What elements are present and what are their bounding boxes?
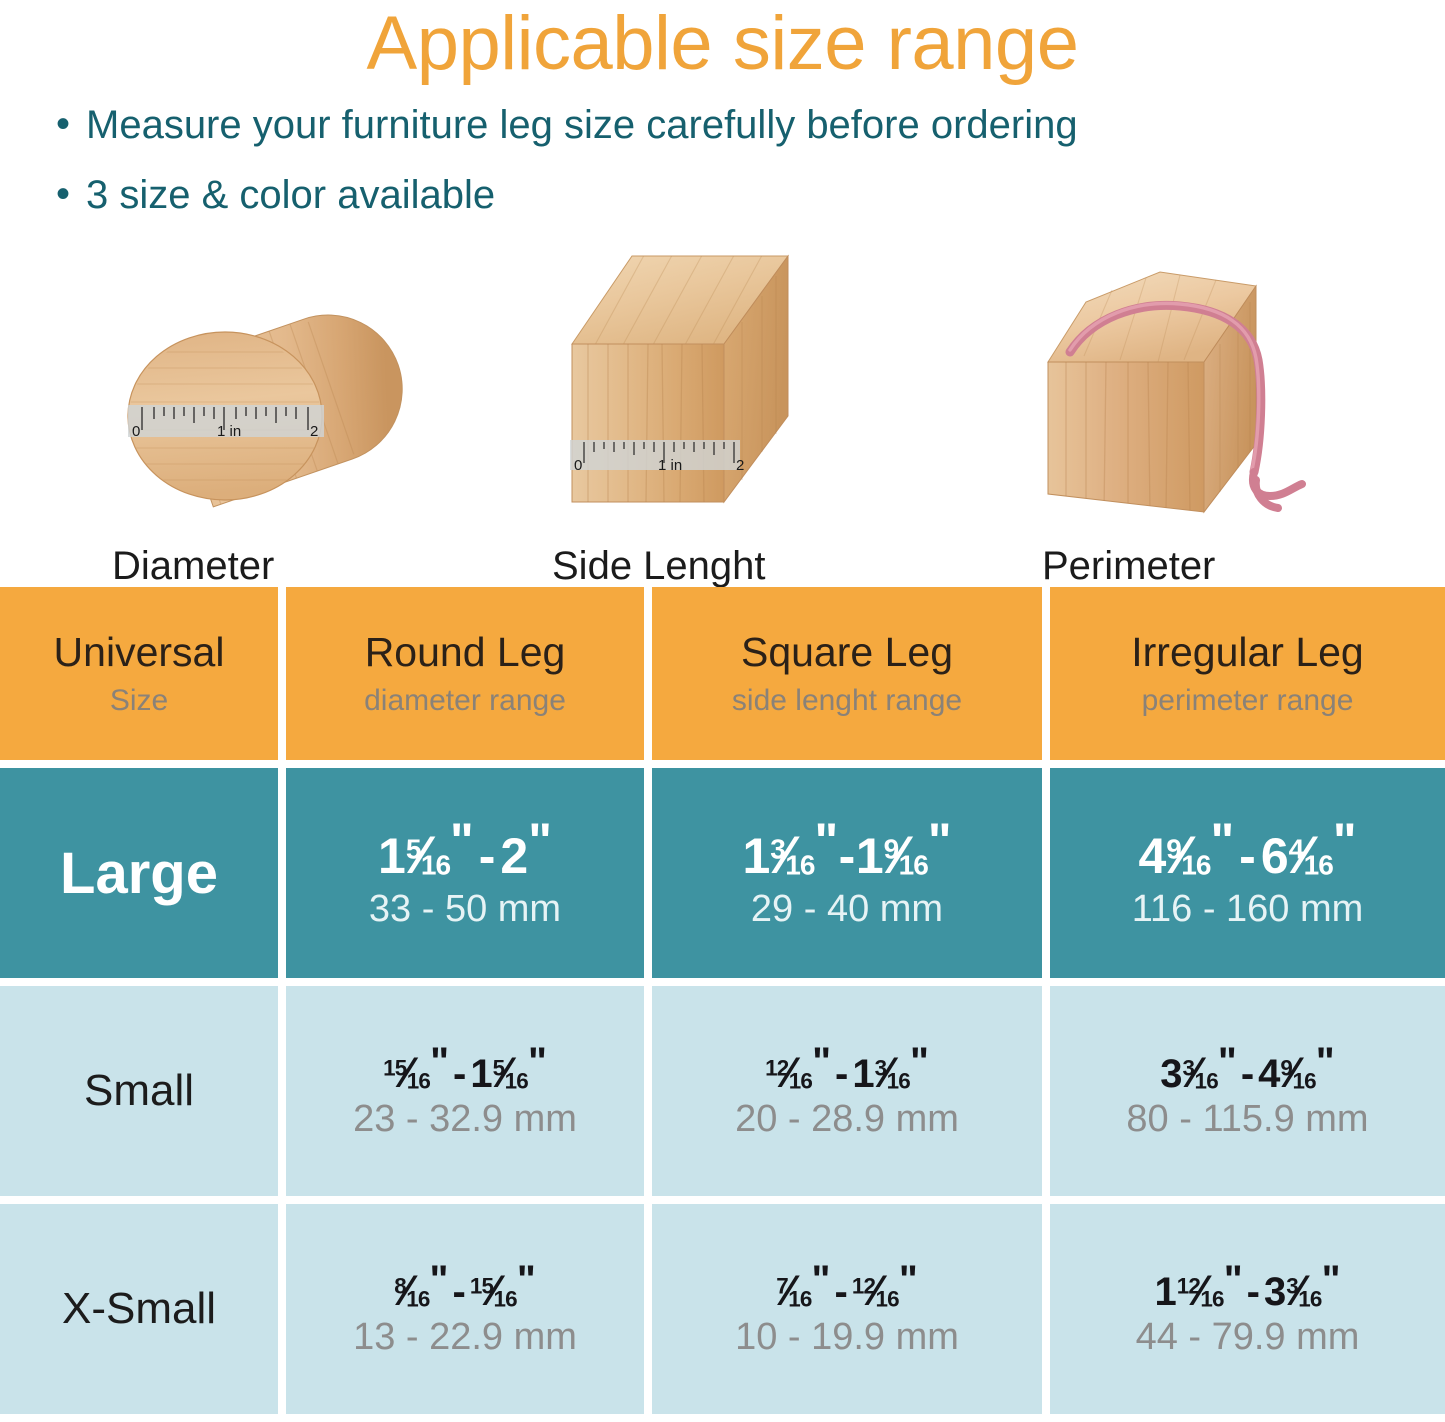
header-cell-universal-size: Universal Size (0, 587, 278, 760)
header-cell-round-leg: Round Leg diameter range (286, 587, 644, 760)
inch-range: 15⁄16"-2" (378, 815, 552, 884)
mm-range: 116 - 160 mm (1132, 889, 1364, 931)
table-row: Large 15⁄16"-2" 33 - 50 mm 13⁄16"-19⁄16"… (0, 768, 1445, 978)
inch-range: 33⁄16"-49⁄16" (1160, 1041, 1334, 1096)
ruler-mark-0: 0 (574, 457, 582, 474)
size-label: Small (84, 1066, 194, 1116)
value-cell-x-small-square: 7⁄16"-12⁄16" 10 - 19.9 mm (652, 1204, 1042, 1414)
ruler-mark-2: 2 (736, 457, 744, 474)
header-sub: perimeter range (1142, 684, 1354, 717)
bullet-text: Measure your furniture leg size carefull… (86, 104, 1078, 146)
size-label: Large (60, 840, 218, 907)
size-cell-small: Small (0, 986, 278, 1196)
value-cell-large-irregular: 49⁄16"-64⁄16" 116 - 160 mm (1050, 768, 1445, 978)
ruler-mark-1in: 1 in (217, 423, 241, 440)
table-header-row: Universal Size Round Leg diameter range … (0, 587, 1445, 760)
inch-range: 15⁄16"-15⁄16" (383, 1041, 547, 1096)
measuring-string-tail (1253, 472, 1302, 508)
value-cell-x-small-round: 8⁄16"-15⁄16" 13 - 22.9 mm (286, 1204, 644, 1414)
header-cell-square-leg: Square Leg side lenght range (652, 587, 1042, 760)
ruler-mark-1in: 1 in (658, 457, 682, 474)
ruler-overlay: 0 1 in 2 (570, 440, 744, 474)
irregular-leg-block-illustration (1040, 244, 1330, 524)
value-cell-x-small-irregular: 112⁄16"-33⁄16" 44 - 79.9 mm (1050, 1204, 1445, 1414)
size-cell-x-small: X-Small (0, 1204, 278, 1414)
header-main: Round Leg (365, 630, 566, 675)
bullet-text: 3 size & color available (86, 174, 495, 216)
square-leg-block-illustration: 0 1 in 2 (570, 244, 820, 524)
mm-range: 23 - 32.9 mm (353, 1099, 577, 1141)
bullet-dot-icon: • (56, 174, 86, 214)
inch-range: 7⁄16"-12⁄16" (776, 1259, 918, 1314)
mm-range: 33 - 50 mm (369, 889, 561, 931)
table-row: X-Small 8⁄16"-15⁄16" 13 - 22.9 mm 7⁄16"-… (0, 1204, 1445, 1414)
size-chart-table: Universal Size Round Leg diameter range … (0, 587, 1445, 1422)
list-item: • Measure your furniture leg size carefu… (56, 104, 1445, 146)
mm-range: 10 - 19.9 mm (735, 1317, 959, 1359)
inch-range: 12⁄16"-13⁄16" (765, 1041, 929, 1096)
header-main: Universal (54, 630, 225, 675)
header-main: Square Leg (741, 630, 953, 675)
illustration-band: 0 1 in 2 (0, 244, 1445, 544)
inch-range: 8⁄16"-15⁄16" (394, 1259, 536, 1314)
page-title: Applicable size range (0, 0, 1445, 82)
header-sub: diameter range (364, 684, 566, 717)
header-cell-irregular-leg: Irregular Leg perimeter range (1050, 587, 1445, 760)
list-item: • 3 size & color available (56, 174, 1445, 216)
ruler-overlay: 0 1 in 2 (128, 405, 324, 440)
inch-range: 13⁄16"-19⁄16" (742, 815, 951, 884)
caption-perimeter: Perimeter (1042, 544, 1215, 589)
size-cell-large: Large (0, 768, 278, 978)
inch-range: 112⁄16"-33⁄16" (1154, 1259, 1340, 1314)
round-leg-cylinder-illustration: 0 1 in 2 (118, 244, 408, 524)
header-sub: Size (110, 684, 168, 717)
header-sub: side lenght range (732, 684, 962, 717)
bullet-list: • Measure your furniture leg size carefu… (0, 104, 1445, 216)
value-cell-small-round: 15⁄16"-15⁄16" 23 - 32.9 mm (286, 986, 644, 1196)
bullet-dot-icon: • (56, 104, 86, 144)
ruler-mark-0: 0 (132, 423, 140, 440)
header-main: Irregular Leg (1131, 630, 1363, 675)
value-cell-large-square: 13⁄16"-19⁄16" 29 - 40 mm (652, 768, 1042, 978)
ruler-mark-2: 2 (310, 423, 318, 440)
mm-range: 29 - 40 mm (751, 889, 943, 931)
mm-range: 44 - 79.9 mm (1136, 1317, 1360, 1359)
mm-range: 80 - 115.9 mm (1126, 1099, 1368, 1141)
caption-side-lenght: Side Lenght (552, 544, 766, 589)
caption-diameter: Diameter (112, 544, 274, 589)
inch-range: 49⁄16"-64⁄16" (1138, 815, 1356, 884)
table-row: Small 15⁄16"-15⁄16" 23 - 32.9 mm 12⁄16"-… (0, 986, 1445, 1196)
mm-range: 20 - 28.9 mm (735, 1099, 959, 1141)
value-cell-large-round: 15⁄16"-2" 33 - 50 mm (286, 768, 644, 978)
value-cell-small-square: 12⁄16"-13⁄16" 20 - 28.9 mm (652, 986, 1042, 1196)
size-label: X-Small (62, 1284, 216, 1334)
value-cell-small-irregular: 33⁄16"-49⁄16" 80 - 115.9 mm (1050, 986, 1445, 1196)
mm-range: 13 - 22.9 mm (353, 1317, 577, 1359)
